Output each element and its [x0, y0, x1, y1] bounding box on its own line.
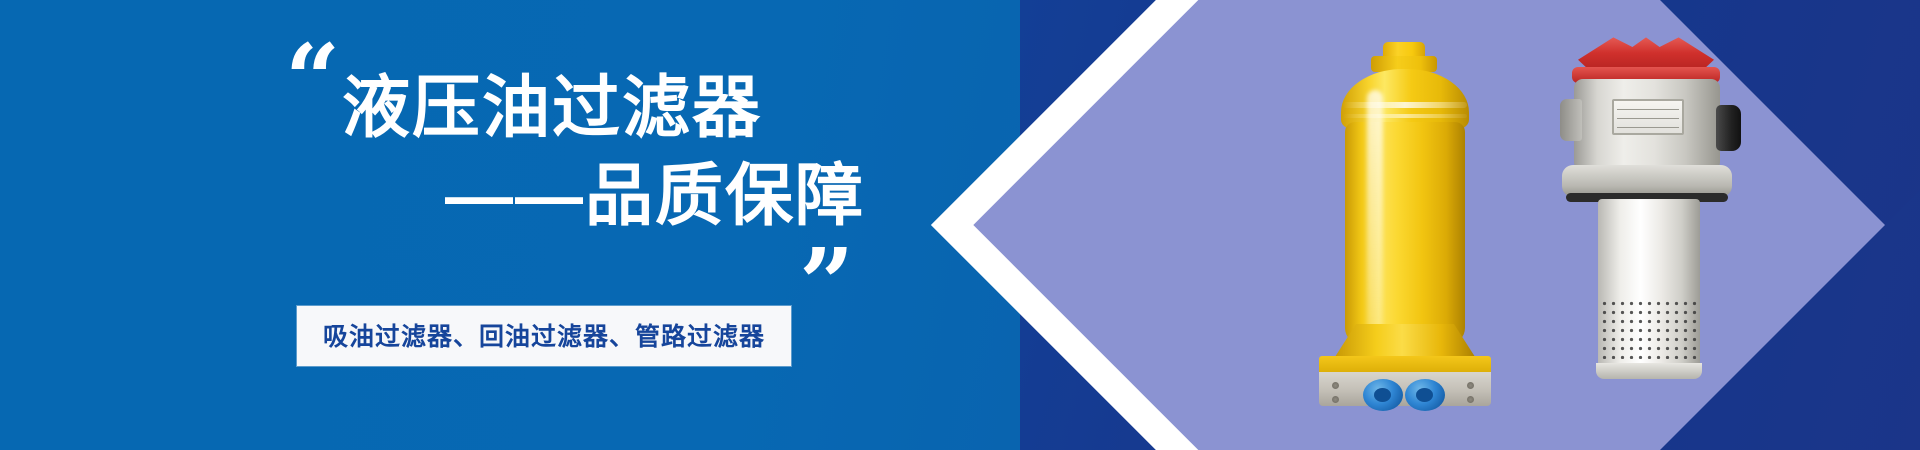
mount-screw-2 — [1332, 396, 1339, 403]
mount-screw-4 — [1467, 396, 1474, 403]
filter-gloss-highlight — [1367, 90, 1383, 340]
filter-black-knob — [1716, 105, 1741, 151]
subtitle-banner: 吸油过滤器、回油过滤器、管路过滤器 — [297, 306, 791, 366]
filter-base-flare — [1333, 324, 1477, 360]
filter-perforation-pattern — [1598, 297, 1700, 359]
filter-port-cap-1 — [1363, 379, 1403, 411]
headline-block: “ 液压油过滤器 ——品质保障 “ 吸油过滤器、回油过滤器、管路过滤器 — [285, 30, 865, 400]
filter-port-cap-2 — [1405, 379, 1445, 411]
filter-side-boss-left — [1560, 99, 1582, 141]
filter-nameplate — [1612, 99, 1684, 135]
nameplate-row-1 — [1617, 103, 1679, 110]
filter-highlight-ring-2 — [1343, 114, 1467, 118]
filter-tube-end-cap — [1596, 363, 1702, 379]
mount-screw-1 — [1332, 382, 1339, 389]
headline-line-1: 液压油过滤器 — [342, 70, 762, 146]
product-image-return-filter — [1540, 35, 1750, 395]
promo-banner: “ 液压油过滤器 ——品质保障 “ 吸油过滤器、回油过滤器、管路过滤器 — [0, 0, 1920, 450]
filter-mount-plate-yellow — [1319, 356, 1491, 373]
filter-mount-plate-metal — [1319, 372, 1491, 406]
nameplate-row-2 — [1617, 112, 1679, 119]
headline-line-2: ——品质保障 — [342, 158, 865, 234]
filter-highlight-ring-1 — [1343, 102, 1467, 108]
filter-body — [1345, 122, 1465, 344]
quote-close-mark: “ — [802, 188, 853, 284]
quote-open-mark: “ — [285, 32, 336, 128]
product-image-suction-filter — [1315, 42, 1495, 382]
mount-screw-3 — [1467, 382, 1474, 389]
nameplate-row-3 — [1617, 121, 1679, 128]
